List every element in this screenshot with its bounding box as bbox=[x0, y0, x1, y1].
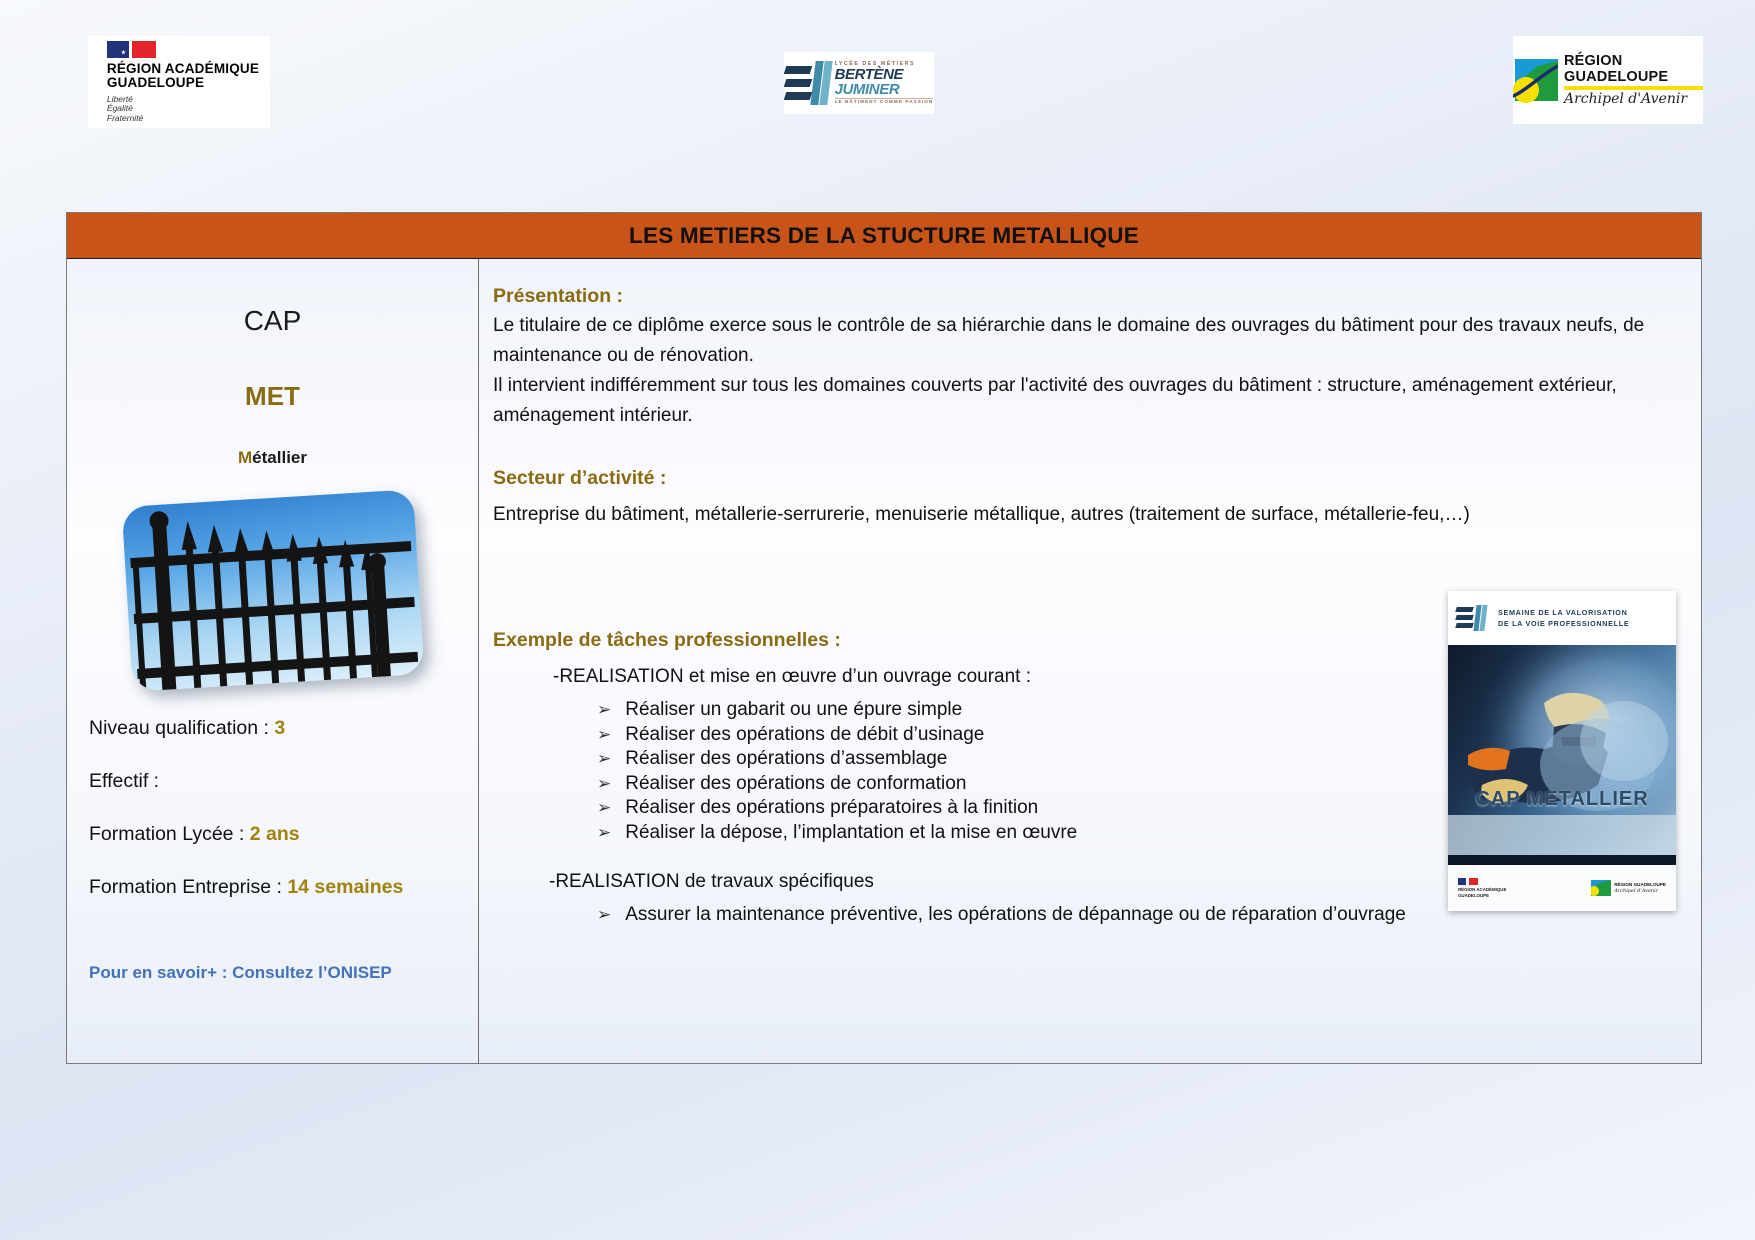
logo-region-academique-guadeloupe: RÉGION ACADÉMIQUE GUADELOUPE Liberté Éga… bbox=[88, 36, 270, 128]
diploma-detail-column: Présentation : Le titulaire de ce diplôm… bbox=[479, 259, 1701, 1064]
wrought-iron-gate-image bbox=[127, 498, 419, 683]
arrow-bullet-icon: ➢ bbox=[597, 821, 611, 846]
arrow-bullet-icon: ➢ bbox=[597, 796, 611, 821]
diploma-label-rest: étallier bbox=[252, 448, 307, 467]
info-label: Effectif : bbox=[89, 770, 159, 792]
poster-footer: RÉGION ACADÉMIQUE GUADELOUPE RÉGION GUAD… bbox=[1448, 865, 1676, 911]
list-item-label: Assurer la maintenance préventive, les o… bbox=[625, 903, 1406, 928]
info-row: Formation Entreprise : 14 semaines bbox=[89, 876, 464, 899]
poster-footer-left-line2: GUADELOUPE bbox=[1458, 893, 1506, 899]
french-flag-icon bbox=[1458, 878, 1478, 885]
guadeloupe-landscape-icon bbox=[1591, 880, 1611, 896]
arrow-bullet-icon: ➢ bbox=[597, 772, 611, 797]
logo-region-title: RÉGION GUADELOUPE bbox=[1564, 53, 1703, 85]
poster-header-line2: DE LA VOIE PROFESSIONNELLE bbox=[1498, 618, 1629, 629]
fiche-card: LES METIERS DE LA STUCTURE METALLIQUE CA… bbox=[66, 212, 1702, 1064]
arrow-bullet-icon: ➢ bbox=[597, 903, 611, 928]
poster-header: SEMAINE DE LA VALORISATION DE LA VOIE PR… bbox=[1448, 591, 1676, 645]
logo-lycee-tagline: LE BÂTIMENT COMME PASSION bbox=[835, 98, 934, 105]
logo-academie-line1: RÉGION ACADÉMIQUE bbox=[107, 62, 259, 77]
arrow-bullet-icon: ➢ bbox=[597, 698, 611, 723]
info-value: 14 semaines bbox=[287, 876, 403, 898]
list-item-label: Réaliser des opérations de conformation bbox=[625, 772, 966, 797]
diploma-summary-column: CAP MET Métallier bbox=[67, 259, 479, 1064]
logo-academie-line2: GUADELOUPE bbox=[107, 76, 259, 91]
diploma-code: CAP bbox=[81, 305, 464, 337]
diploma-info-list: Niveau qualification : 3 Effectif : Form… bbox=[81, 717, 464, 929]
presentation-body: Le titulaire de ce diplôme exerce sous l… bbox=[493, 311, 1679, 431]
french-flag-icon bbox=[107, 41, 159, 58]
swoosh-icon bbox=[1513, 57, 1558, 103]
welder-illustration-icon bbox=[1448, 645, 1676, 855]
logo-lycee-word2: JUMINER bbox=[835, 82, 934, 97]
info-value: 2 ans bbox=[250, 823, 300, 845]
presentation-heading: Présentation : bbox=[493, 285, 1679, 308]
logo-region-subtitle: Archipel d'Avenir bbox=[1564, 91, 1703, 107]
card-body: CAP MET Métallier bbox=[67, 259, 1701, 1064]
poster-header-line1: SEMAINE DE LA VALORISATION bbox=[1498, 607, 1629, 618]
list-item-label: Réaliser un gabarit ou une épure simple bbox=[625, 698, 962, 723]
secteur-activite-body: Entreprise du bâtiment, métallerie-serru… bbox=[493, 493, 1679, 537]
info-label: Formation Lycée : bbox=[89, 823, 244, 845]
info-row: Effectif : bbox=[89, 770, 464, 793]
poster-footer-right-subtitle: Archipel d'Avenir bbox=[1614, 888, 1666, 894]
info-label: Niveau qualification : bbox=[89, 717, 269, 739]
welder-photo: CAP METALLIER bbox=[1448, 645, 1676, 855]
page-title: LES METIERS DE LA STUCTURE METALLIQUE bbox=[67, 213, 1701, 259]
info-label: Formation Entreprise : bbox=[89, 876, 282, 898]
guadeloupe-landscape-icon bbox=[1513, 55, 1558, 105]
diploma-label-initial: M bbox=[238, 448, 252, 467]
logo-lycee-word1: BERTÈNE bbox=[835, 67, 934, 82]
arrow-bullet-icon: ➢ bbox=[597, 747, 611, 772]
header-logo-strip: RÉGION ACADÉMIQUE GUADELOUPE Liberté Éga… bbox=[0, 0, 1755, 160]
list-item-label: Réaliser des opérations d’assemblage bbox=[625, 747, 947, 772]
list-item-label: Réaliser des opérations préparatoires à … bbox=[625, 796, 1038, 821]
cap-metallier-poster: SEMAINE DE LA VALORISATION DE LA VOIE PR… bbox=[1448, 591, 1676, 911]
poster-caption: CAP METALLIER bbox=[1448, 788, 1676, 811]
info-row: Niveau qualification : 3 bbox=[89, 717, 464, 740]
secteur-activite-heading: Secteur d’activité : bbox=[493, 467, 1679, 490]
logo-lycee-bertene-juminer: LYCÉE DES MÉTIERS BERTÈNE JUMINER LE BÂT… bbox=[784, 52, 934, 114]
logo-region-guadeloupe: RÉGION GUADELOUPE Archipel d'Avenir bbox=[1513, 36, 1703, 124]
info-value: 3 bbox=[274, 717, 285, 739]
arrow-bullet-icon: ➢ bbox=[597, 723, 611, 748]
onisep-link[interactable]: Pour en savoir+ : Consultez l’ONISEP bbox=[81, 963, 464, 983]
diploma-label: Métallier bbox=[81, 448, 464, 468]
logo-region-rule bbox=[1564, 86, 1703, 90]
building-mark-icon bbox=[785, 61, 831, 105]
motto-fraternite: Fraternité bbox=[107, 114, 259, 124]
building-mark-icon bbox=[1456, 605, 1490, 631]
poster-footer-left-line1: RÉGION ACADÉMIQUE bbox=[1458, 887, 1506, 893]
gate-illustration-icon bbox=[121, 489, 424, 691]
info-row: Formation Lycée : 2 ans bbox=[89, 823, 464, 846]
list-item-label: Réaliser des opérations de débit d’usina… bbox=[625, 723, 984, 748]
diploma-abbreviation: MET bbox=[81, 381, 464, 412]
list-item-label: Réaliser la dépose, l’implantation et la… bbox=[625, 821, 1077, 846]
